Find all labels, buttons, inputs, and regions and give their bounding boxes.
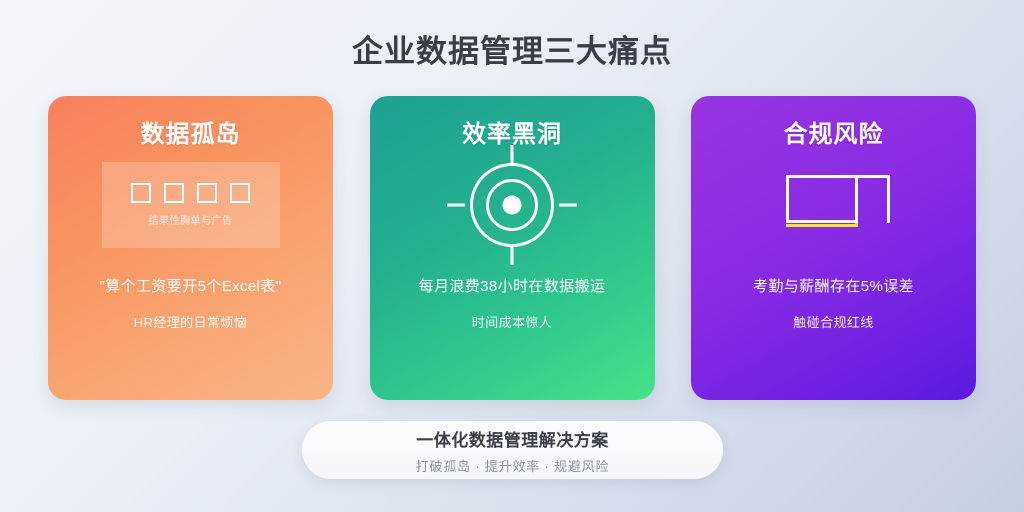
- card-efficiency-blackhole[interactable]: 效率黑洞 每月浪费38小时在数据搬运 时间成本惊人: [370, 96, 655, 400]
- infographic-page: 企业数据管理三大痛点 数据孤岛 结果性胸单与广告 "算个工资要开5个Excel表…: [0, 0, 1024, 512]
- banner-subtitle: 打破孤岛 · 提升效率 · 规避风险: [416, 456, 610, 475]
- page-title: 企业数据管理三大痛点: [0, 26, 1024, 71]
- card-icon-area: [691, 149, 976, 261]
- crosshair-tick-bottom: [511, 247, 514, 265]
- card-sub: HR经理的日常烦恼: [48, 312, 333, 331]
- crosshair-tick-top: [511, 145, 514, 163]
- card-stat: "算个工资要开5个Excel表": [48, 275, 333, 296]
- card-data-silo[interactable]: 数据孤岛 结果性胸单与广告 "算个工资要开5个Excel表" HR经理的日常烦恼: [48, 96, 333, 400]
- card-body: 考勤与薪酬存在5%误差 触碰合规红线: [691, 275, 976, 331]
- silo-square: [230, 183, 250, 203]
- target-center-dot: [503, 196, 522, 215]
- card-title: 合规风险: [784, 114, 884, 149]
- crosshair-tick-right: [559, 204, 577, 207]
- card-sub: 触碰合规红线: [691, 312, 976, 331]
- silo-square: [131, 183, 151, 203]
- target-crosshair-icon: [456, 149, 568, 261]
- frame-outline-left: [786, 175, 858, 223]
- solution-banner[interactable]: 一体化数据管理解决方案 打破孤岛 · 提升效率 · 规避风险: [302, 421, 723, 479]
- card-body: 每月浪费38小时在数据搬运 时间成本惊人: [370, 275, 655, 331]
- card-stat: 考勤与薪酬存在5%误差: [691, 275, 976, 296]
- silo-square-row: [131, 183, 250, 203]
- card-title: 效率黑洞: [462, 114, 562, 149]
- overlapping-frames-icon: [778, 175, 890, 235]
- crosshair-tick-left: [447, 204, 465, 207]
- card-icon-area: 结果性胸单与广告: [48, 149, 333, 261]
- banner-title: 一体化数据管理解决方案: [416, 426, 609, 451]
- card-body: "算个工资要开5个Excel表" HR经理的日常烦恼: [48, 275, 333, 331]
- card-stat: 每月浪费38小时在数据搬运: [370, 275, 655, 296]
- icon-caption: 结果性胸单与广告: [149, 212, 233, 227]
- four-squares-icon: 结果性胸单与广告: [102, 162, 280, 248]
- card-sub: 时间成本惊人: [370, 312, 655, 331]
- card-icon-area: [370, 149, 655, 261]
- pain-point-cards: 数据孤岛 结果性胸单与广告 "算个工资要开5个Excel表" HR经理的日常烦恼: [48, 96, 976, 400]
- card-compliance-risk[interactable]: 合规风险 考勤与薪酬存在5%误差 触碰合规红线: [691, 96, 976, 400]
- silo-square: [164, 183, 184, 203]
- silo-square: [197, 183, 217, 203]
- card-title: 数据孤岛: [141, 114, 241, 149]
